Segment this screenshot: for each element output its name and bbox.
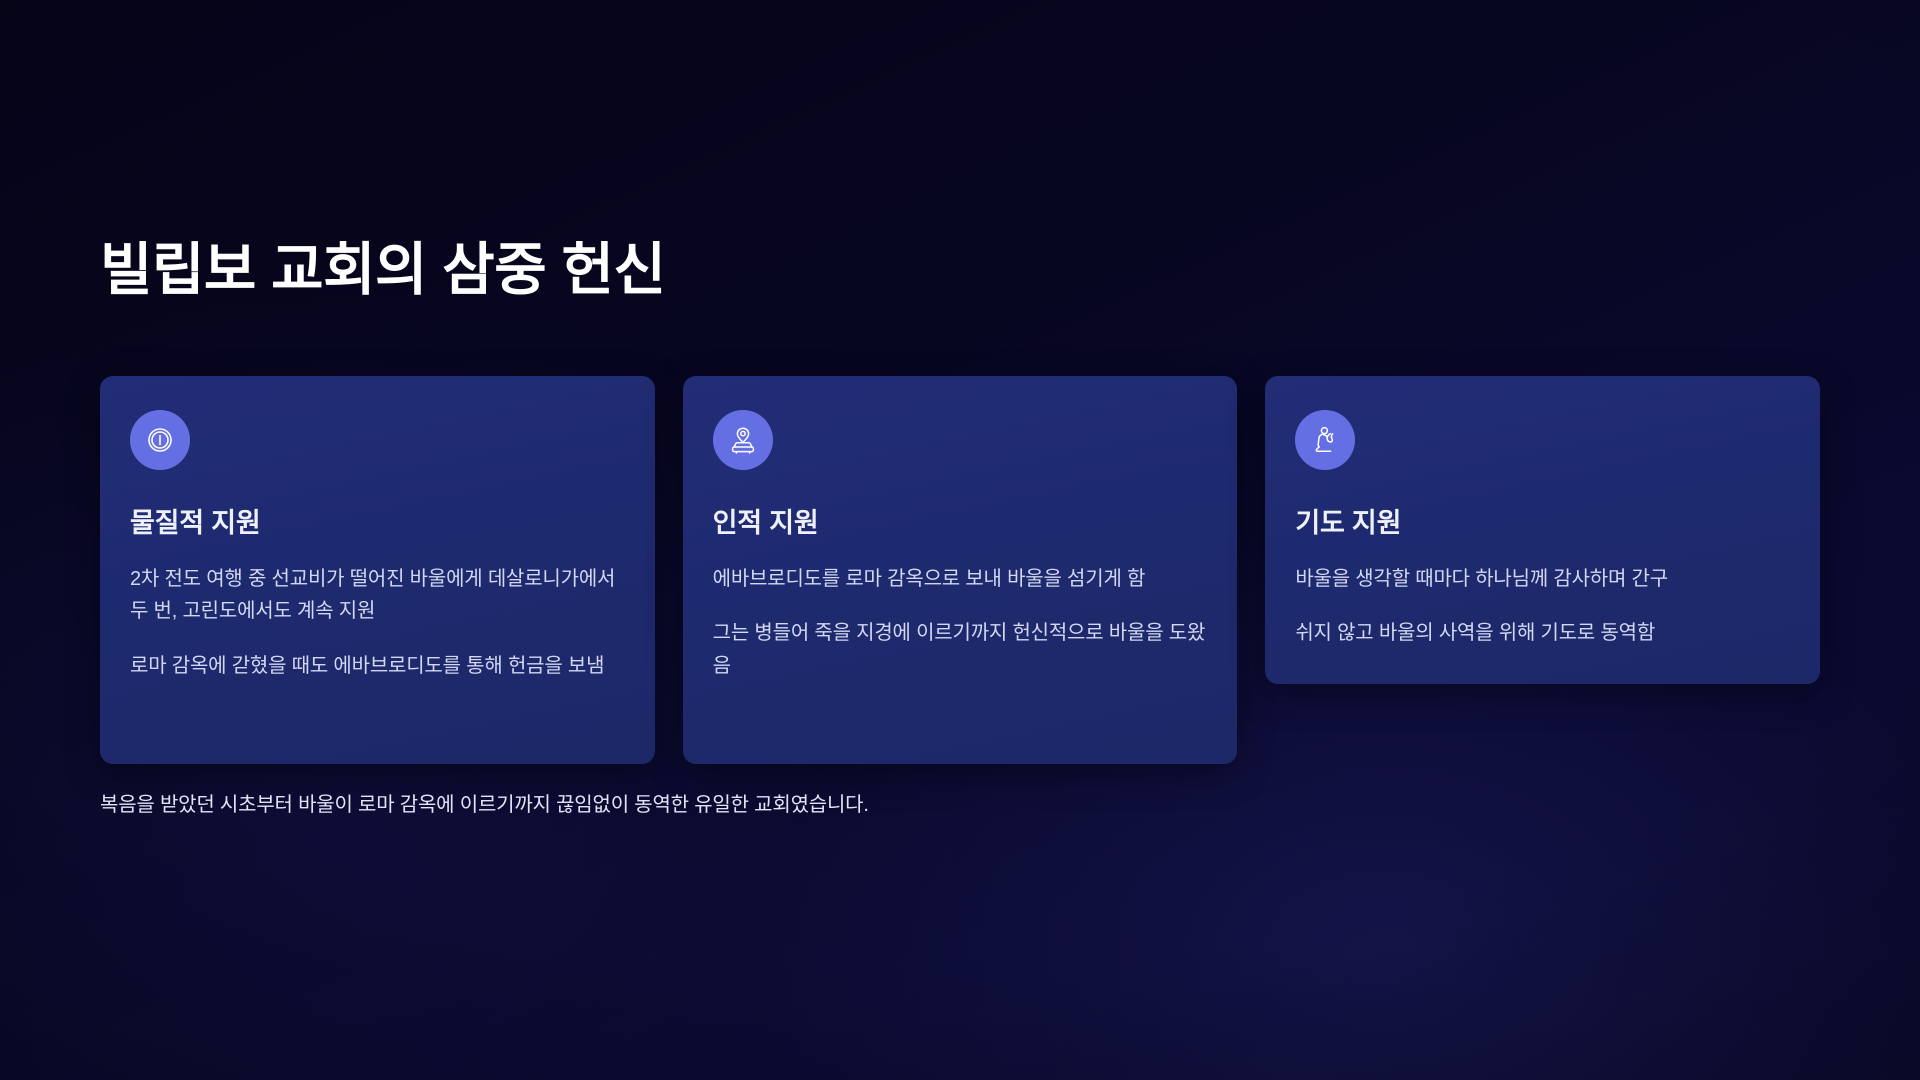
cards-row: 물질적 지원 2차 전도 여행 중 선교비가 떨어진 바울에게 데살로니가에서 … (100, 376, 1820, 764)
card-paragraph: 2차 전도 여행 중 선교비가 떨어진 바울에게 데살로니가에서 두 번, 고린… (130, 563, 625, 628)
person-vehicle-icon (713, 410, 773, 470)
coin-icon (130, 410, 190, 470)
card-prayer-support[interactable]: 기도 지원 바울을 생각할 때마다 하나님께 감사하며 간구 쉬지 않고 바울의… (1265, 376, 1820, 684)
page-title: 빌립보 교회의 삼중 헌신 (100, 236, 665, 304)
card-paragraph: 로마 감옥에 갇혔을 때도 에바브로디도를 통해 헌금을 보냄 (130, 650, 625, 682)
slide-content: 빌립보 교회의 삼중 헌신 물질적 지원 2차 전도 여행 중 선교비가 떨어진… (0, 0, 1920, 1080)
praying-person-icon (1295, 410, 1355, 470)
footer-note: 복음을 받았던 시초부터 바울이 로마 감옥에 이르기까지 끊임없이 동역한 유… (100, 790, 869, 820)
card-title: 인적 지원 (713, 506, 1208, 541)
card-material-support[interactable]: 물질적 지원 2차 전도 여행 중 선교비가 떨어진 바울에게 데살로니가에서 … (100, 376, 655, 764)
card-paragraph: 바울을 생각할 때마다 하나님께 감사하며 간구 (1295, 563, 1790, 595)
card-title: 물질적 지원 (130, 506, 625, 541)
card-paragraph: 그는 병들어 죽을 지경에 이르기까지 헌신적으로 바울을 도왔음 (713, 617, 1208, 682)
card-paragraph: 쉬지 않고 바울의 사역을 위해 기도로 동역함 (1295, 617, 1790, 649)
card-paragraph: 에바브로디도를 로마 감옥으로 보내 바울을 섬기게 함 (713, 563, 1208, 595)
card-human-support[interactable]: 인적 지원 에바브로디도를 로마 감옥으로 보내 바울을 섬기게 함 그는 병들… (683, 376, 1238, 764)
card-title: 기도 지원 (1295, 506, 1790, 541)
